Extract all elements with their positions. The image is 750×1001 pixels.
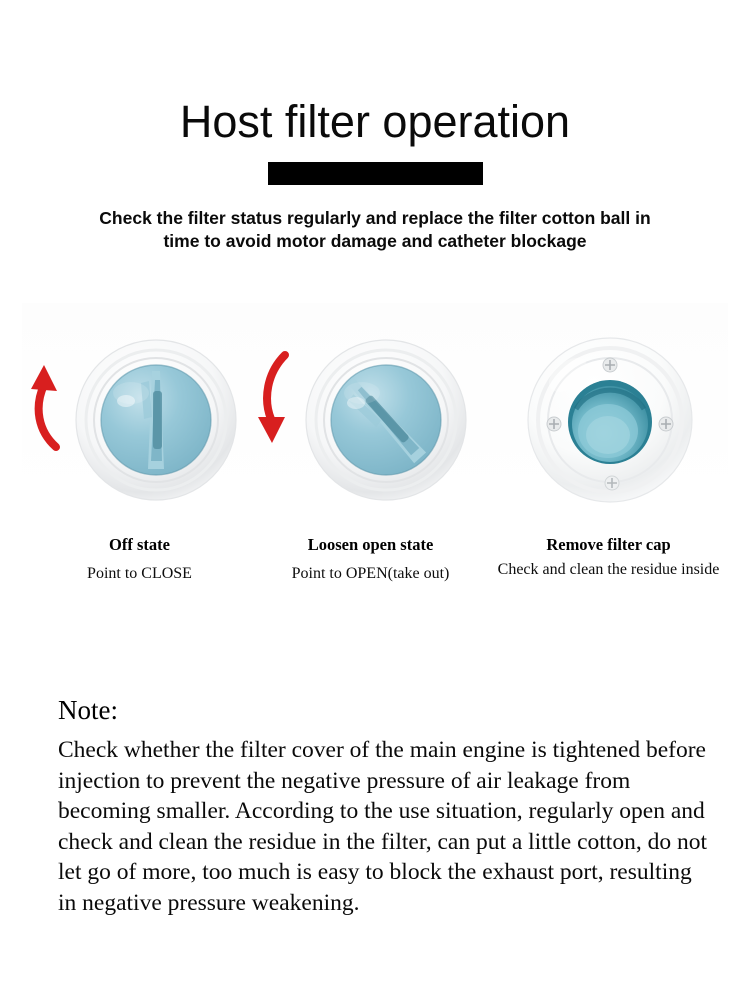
- figure-remove-filter-cap: Remove filter cap Check and clean the re…: [491, 303, 726, 633]
- figure-off-state: Off state Point to CLOSE: [22, 303, 257, 633]
- caption-title: Loosen open state: [253, 535, 488, 554]
- filter-cap-closed-photo: [56, 325, 244, 513]
- note-block: Note: Check whether the filter cover of …: [58, 694, 708, 918]
- caption-subtext: Point to CLOSE: [22, 565, 257, 582]
- caption-subtext: Check and clean the residue inside: [491, 561, 726, 578]
- figures-panel: Off state Point to CLOSE: [22, 303, 728, 633]
- caption-subtext: Point to OPEN(take out): [253, 565, 488, 582]
- header: Host filter operation Check the filter s…: [0, 0, 750, 253]
- page-title: Host filter operation: [0, 0, 750, 148]
- screw-icon: [605, 476, 619, 490]
- filter-cap-loosened-photo: [288, 325, 476, 513]
- filter-cap-removed-photo: [516, 325, 704, 513]
- rotate-counterclockwise-arrow-icon: [28, 351, 70, 451]
- caption-title: Off state: [22, 535, 257, 554]
- figure-loosen-open-state: Loosen open state Point to OPEN(take out…: [253, 303, 488, 633]
- caption-title: Remove filter cap: [491, 535, 726, 554]
- screw-icon: [547, 417, 561, 431]
- page-subtitle: Check the filter status regularly and re…: [95, 185, 655, 253]
- note-heading: Note:: [58, 694, 708, 726]
- title-underline-rule: [268, 162, 483, 185]
- note-body-text: Check whether the filter cover of the ma…: [58, 726, 708, 918]
- screw-icon: [603, 358, 617, 372]
- screw-icon: [659, 417, 673, 431]
- rotate-clockwise-arrow-icon: [255, 347, 297, 451]
